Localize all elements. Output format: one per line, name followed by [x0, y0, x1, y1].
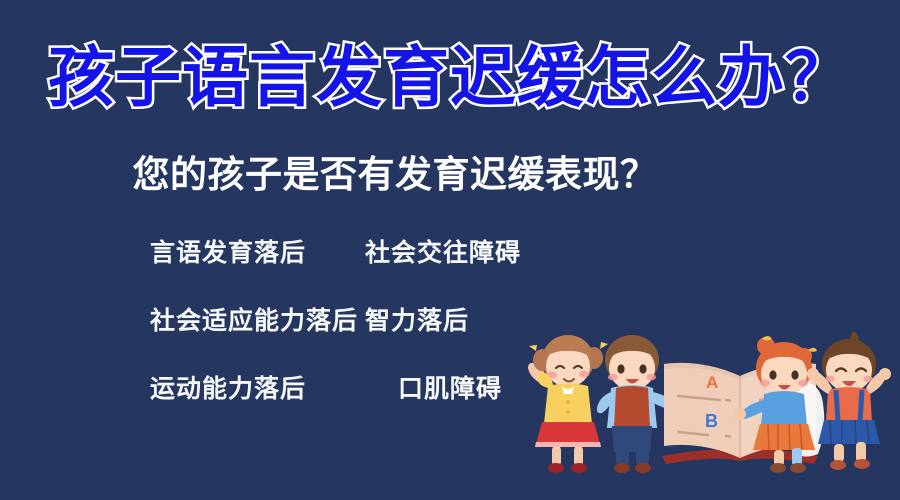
subtitle-question: 您的孩子是否有发育迟缓表现？ [0, 150, 790, 200]
page-title: 孩子语言发育迟缓怎么办？ [0, 38, 900, 116]
symptom-speech-delay: 言语发育落后 [150, 238, 365, 268]
symptom-motor-delay: 运动能力落后 [150, 374, 398, 404]
symptom-oral-motor-disorder: 口肌障碍 [398, 374, 502, 404]
book-letter-a: A [706, 373, 718, 392]
list-item: 运动能力落后 口肌障碍 [150, 374, 570, 442]
symptom-social-interaction-disorder: 社会交往障碍 [365, 238, 521, 268]
poster-canvas: 孩子语言发育迟缓怎么办？ 您的孩子是否有发育迟缓表现？ 言语发育落后 社会交往障… [0, 0, 900, 500]
book-letter-b: B [705, 411, 718, 431]
four-children-reading-book-illustration: A B C E [512, 324, 900, 474]
symptom-list: 言语发育落后 社会交往障碍 社会适应能力落后 智力落后 运动能力落后 口肌障碍 [150, 238, 570, 442]
symptom-intellectual-delay: 智力落后 [365, 306, 469, 336]
list-item: 社会适应能力落后 智力落后 [150, 306, 570, 374]
symptom-social-adaptation-delay: 社会适应能力落后 [150, 306, 365, 336]
list-item: 言语发育落后 社会交往障碍 [150, 238, 570, 306]
child-1-girl-yellow [528, 335, 608, 473]
